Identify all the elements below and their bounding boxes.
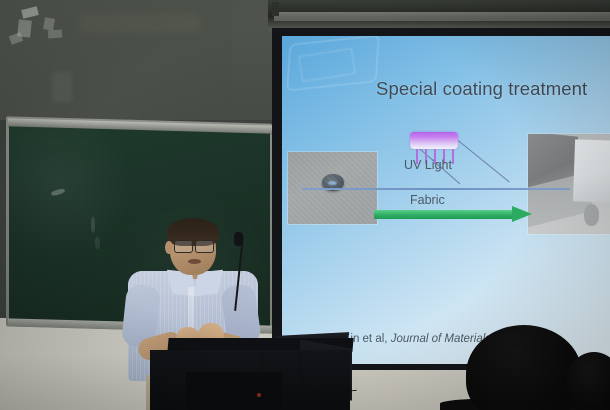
slide-photo-right	[528, 134, 610, 234]
projection-screen-surface: Special coating treatment UV Light Fabri…	[282, 36, 610, 364]
wall-paper-scrap	[48, 30, 63, 39]
glasses-lens-left	[174, 240, 193, 253]
uv-light-label: UV Light	[404, 158, 452, 172]
uv-beam-edge-right	[458, 140, 510, 183]
glasses-bridge	[191, 244, 196, 245]
lecture-photo-scene: Special coating treatment UV Light Fabri…	[0, 0, 610, 410]
fabric-label: Fabric	[410, 193, 445, 207]
glasses-icon	[172, 240, 216, 252]
projector-screen-bracket	[272, 2, 279, 16]
uv-ray	[452, 149, 454, 164]
chalk-mark	[91, 217, 95, 233]
glasses-lens-right	[195, 240, 214, 253]
presenter-mouth	[188, 259, 201, 264]
chalk-mark	[51, 188, 66, 197]
uv-lamp-icon	[410, 132, 458, 149]
wall-smudge	[80, 14, 200, 32]
process-arrow-body	[374, 210, 514, 219]
process-arrow-head	[512, 206, 532, 222]
wall-smudge-secondary	[52, 72, 72, 102]
photo-fabric-swatch	[573, 139, 610, 202]
microphone-icon	[234, 232, 243, 246]
slide-title: Special coating treatment	[376, 78, 587, 100]
photo-object-blob	[584, 204, 599, 226]
podium-power-led	[257, 393, 261, 397]
chalk-mark	[95, 237, 100, 249]
wall-paper-scrap	[43, 17, 55, 31]
process-arrow	[374, 206, 532, 222]
projector-screen-roller	[274, 12, 610, 21]
